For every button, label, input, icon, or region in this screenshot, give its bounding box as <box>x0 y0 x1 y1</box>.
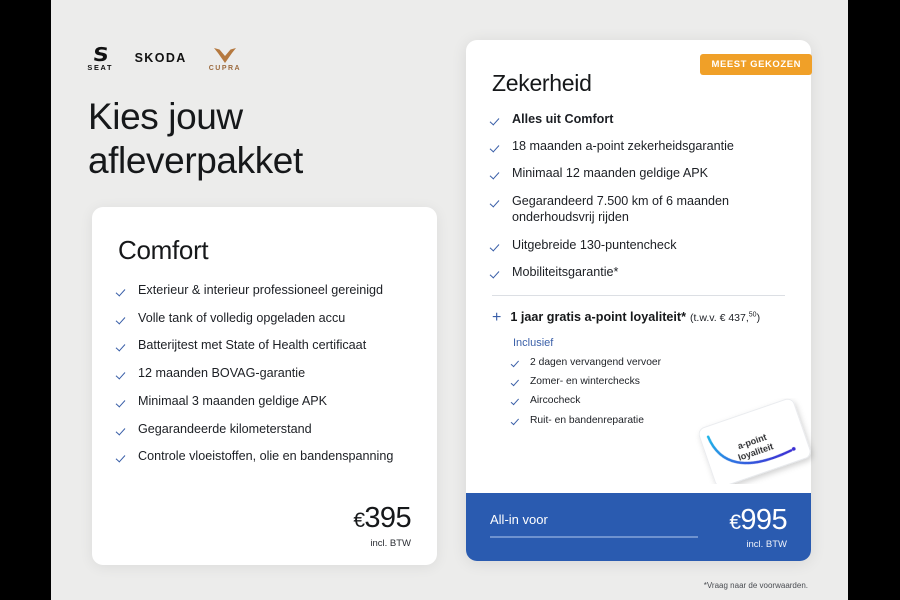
bonus-label: 1 jaar gratis a-point loyaliteit* <box>510 310 686 324</box>
list-item: Exterieur & interieur professioneel gere… <box>118 282 411 299</box>
list-item: Minimaal 12 maanden geldige APK <box>492 165 785 182</box>
list-item: Gegarandeerde kilometerstand <box>118 421 411 438</box>
feature-text: 18 maanden a-point zekerheidsgarantie <box>512 138 734 155</box>
cupra-wordmark: CUPRA <box>209 65 241 72</box>
seat-mark-icon: S <box>92 46 108 64</box>
check-icon <box>513 396 522 405</box>
feature-text: Gegarandeerde kilometerstand <box>138 421 312 438</box>
check-icon <box>118 424 129 435</box>
check-icon <box>492 141 503 152</box>
zekerheid-feature-list: Alles uit Comfort 18 maanden a-point zek… <box>492 111 785 281</box>
seat-wordmark: SEAT <box>87 65 113 72</box>
feature-text: Controle vloeistoffen, olie en bandenspa… <box>138 448 393 465</box>
package-card-zekerheid[interactable]: MEEST GEKOZEN Zekerheid Alles uit Comfor… <box>466 40 811 561</box>
check-icon <box>492 240 503 251</box>
list-item: Alles uit Comfort <box>492 111 785 128</box>
list-item: Gegarandeerd 7.500 km of 6 maanden onder… <box>492 193 785 226</box>
feature-text: Minimaal 12 maanden geldige APK <box>512 165 708 182</box>
check-icon <box>492 196 503 207</box>
status-badge: MEEST GEKOZEN <box>700 54 813 75</box>
brand-logo-row: S SEAT SKODA CUPRA <box>88 40 241 72</box>
zekerheid-footer: All-in voor €995 incl. BTW <box>466 493 811 561</box>
zekerheid-price-note: incl. BTW <box>729 539 787 550</box>
check-icon <box>513 358 522 367</box>
comfort-price-note: incl. BTW <box>353 538 411 549</box>
feature-text: Gegarandeerd 7.500 km of 6 maanden onder… <box>512 193 785 226</box>
loyalty-line-1: a-point <box>736 432 768 451</box>
package-card-comfort[interactable]: Comfort Exterieur & interieur profession… <box>92 207 437 565</box>
currency-symbol: € <box>729 511 740 534</box>
feature-text: Batterijtest met State of Health certifi… <box>138 337 366 354</box>
feature-text: Alles uit Comfort <box>512 111 613 128</box>
footer-rule <box>490 536 698 538</box>
check-icon <box>118 396 129 407</box>
zekerheid-price-block: €995 incl. BTW <box>729 506 787 550</box>
list-item: Zomer- en winterchecks <box>513 375 785 388</box>
list-item: Ruit- en bandenreparatie <box>513 414 785 427</box>
list-item: 12 maanden BOVAG-garantie <box>118 365 411 382</box>
check-icon <box>492 114 503 125</box>
footer-left: All-in voor <box>490 506 698 538</box>
comfort-price: €395 <box>353 504 411 533</box>
bonus-value: (t.w.v. € 437,50) <box>690 312 760 324</box>
bonus-row: + 1 jaar gratis a-point loyaliteit*(t.w.… <box>492 309 785 325</box>
footnote: *Vraag naar de voorwaarden. <box>704 581 808 590</box>
included-text: Ruit- en bandenreparatie <box>530 414 644 427</box>
page-title: Kies jouw afleverpakket <box>88 95 428 182</box>
comfort-title: Comfort <box>118 235 411 266</box>
screenshot-stage: S SEAT SKODA CUPRA Kies jouw afleverpakk… <box>0 0 900 600</box>
list-item: Minimaal 3 maanden geldige APK <box>118 393 411 410</box>
zekerheid-price: €995 <box>729 506 787 535</box>
included-title: Inclusief <box>513 337 785 349</box>
included-text: 2 dagen vervangend vervoer <box>530 356 661 369</box>
footer-label: All-in voor <box>490 506 698 527</box>
bonus-value-prefix: (t.w.v. € 437, <box>690 312 749 324</box>
feature-text: Minimaal 3 maanden geldige APK <box>138 393 327 410</box>
bonus-text: 1 jaar gratis a-point loyaliteit*(t.w.v.… <box>510 310 760 324</box>
feature-text: Uitgebreide 130-puntencheck <box>512 237 677 254</box>
cupra-mark-icon <box>213 47 237 64</box>
included-list: 2 dagen vervangend vervoer Zomer- en win… <box>513 356 785 428</box>
list-item: Uitgebreide 130-puntencheck <box>492 237 785 254</box>
price-amount: 395 <box>364 502 411 534</box>
check-icon <box>118 313 129 324</box>
bonus-value-suffix: ) <box>757 312 761 324</box>
comfort-feature-list: Exterieur & interieur professioneel gere… <box>118 282 411 465</box>
loyalty-line-2: loyaliteit <box>737 441 775 462</box>
feature-text: Mobiliteitsgarantie* <box>512 264 618 281</box>
list-item: Mobiliteitsgarantie* <box>492 264 785 281</box>
slide-canvas: S SEAT SKODA CUPRA Kies jouw afleverpakk… <box>51 0 848 600</box>
feature-text: 12 maanden BOVAG-garantie <box>138 365 305 382</box>
check-icon <box>492 168 503 179</box>
section-divider <box>492 295 785 296</box>
list-item: Batterijtest met State of Health certifi… <box>118 337 411 354</box>
included-block: Inclusief 2 dagen vervangend vervoer Zom… <box>492 337 785 428</box>
seat-logo: S SEAT <box>88 46 113 72</box>
included-text: Aircocheck <box>530 394 580 407</box>
check-icon <box>118 451 129 462</box>
check-icon <box>118 285 129 296</box>
comfort-price-block: €395 incl. BTW <box>353 504 411 549</box>
currency-symbol: € <box>353 509 364 532</box>
list-item: 18 maanden a-point zekerheidsgarantie <box>492 138 785 155</box>
included-text: Zomer- en winterchecks <box>530 375 640 388</box>
check-icon <box>118 368 129 379</box>
check-icon <box>118 340 129 351</box>
skoda-logo: SKODA <box>135 51 187 72</box>
list-item: Aircocheck <box>513 394 785 407</box>
feature-text: Exterieur & interieur professioneel gere… <box>138 282 383 299</box>
check-icon <box>492 267 503 278</box>
price-amount: 995 <box>740 504 787 536</box>
check-icon <box>513 416 522 425</box>
feature-text: Volle tank of volledig opgeladen accu <box>138 310 345 327</box>
list-item: Controle vloeistoffen, olie en bandenspa… <box>118 448 411 465</box>
list-item: 2 dagen vervangend vervoer <box>513 356 785 369</box>
bonus-value-cents: 50 <box>749 311 757 318</box>
check-icon <box>513 377 522 386</box>
list-item: Volle tank of volledig opgeladen accu <box>118 310 411 327</box>
cupra-logo: CUPRA <box>209 47 241 72</box>
plus-icon: + <box>492 310 501 326</box>
